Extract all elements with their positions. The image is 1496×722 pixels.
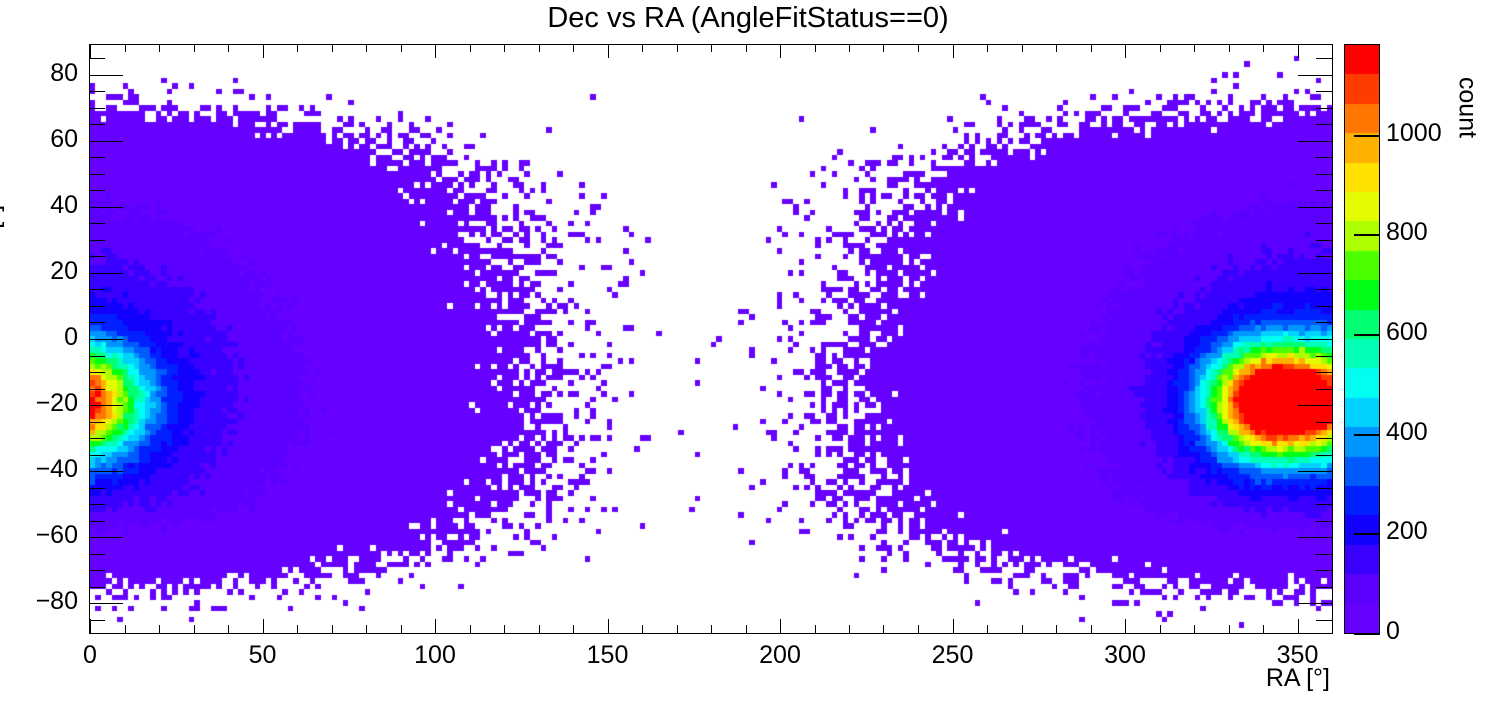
y-tick-label: 20 — [0, 257, 78, 286]
colorbar-canvas — [1345, 45, 1379, 633]
colorbar-tick-label: 600 — [1386, 318, 1428, 347]
x-tick-label: 200 — [740, 641, 820, 670]
heatmap-canvas — [90, 45, 1332, 633]
x-tick-label: 100 — [395, 641, 475, 670]
colorbar-tick-label: 800 — [1386, 218, 1428, 247]
y-tick-label: 40 — [0, 191, 78, 220]
x-tick-label: 0 — [50, 641, 130, 670]
colorbar-tick-label: 400 — [1386, 418, 1428, 447]
x-tick-label: 50 — [223, 641, 303, 670]
colorbar-tick-label: 1000 — [1386, 119, 1442, 148]
x-tick-label: 300 — [1085, 641, 1165, 670]
x-tick-label: 250 — [913, 641, 993, 670]
x-tick-label: 150 — [568, 641, 648, 670]
colorbar — [1344, 44, 1380, 634]
y-tick-label: −60 — [0, 521, 78, 550]
y-tick-label: −40 — [0, 455, 78, 484]
y-tick-label: 0 — [0, 323, 78, 352]
x-axis-title: RA [°] — [1180, 664, 1330, 693]
plot-canvas-root: Dec vs RA (AngleFitStatus==0) 0501001502… — [0, 0, 1496, 722]
colorbar-tick-label: 0 — [1386, 617, 1400, 646]
colorbar-title-wrap: count — [1452, 48, 1482, 168]
y-tick-label: −80 — [0, 587, 78, 616]
plot-frame — [89, 44, 1333, 634]
y-axis-title: declination [°] — [0, 150, 6, 410]
page-title: Dec vs RA (AngleFitStatus==0) — [0, 2, 1496, 35]
y-tick-label: 80 — [0, 59, 78, 88]
y-tick-label: 60 — [0, 125, 78, 154]
y-tick-label: −20 — [0, 389, 78, 418]
colorbar-title: count — [1453, 48, 1482, 168]
colorbar-tick-label: 200 — [1386, 517, 1428, 546]
